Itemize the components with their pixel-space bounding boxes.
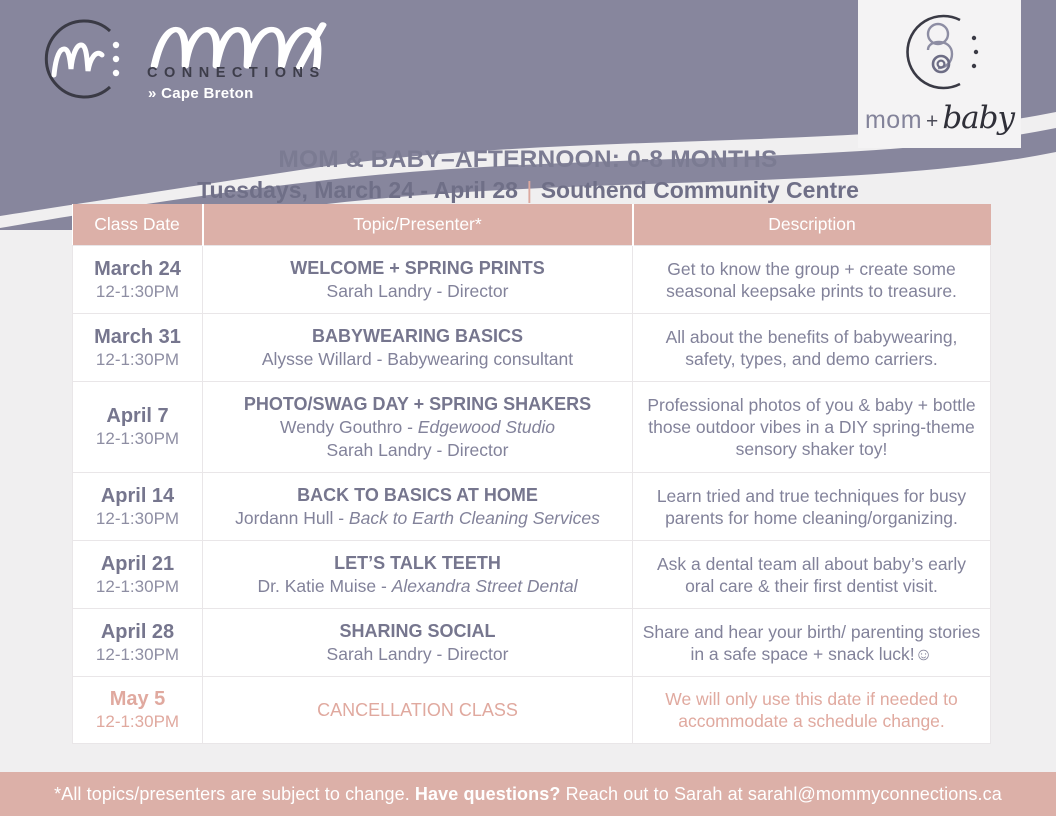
presenter-org-text: Back to Earth Cleaning Services bbox=[349, 508, 600, 528]
presenter-text: Alysse Willard - Babywearing consultant bbox=[211, 348, 624, 371]
footer-note-before: *All topics/presenters are subject to ch… bbox=[54, 784, 415, 804]
class-date-text: April 28 bbox=[81, 620, 194, 644]
cell-description: Professional photos of you & baby + bott… bbox=[633, 382, 991, 473]
class-time-text: 12-1:30PM bbox=[81, 281, 194, 303]
table-row: April 712-1:30PMPHOTO/SWAG DAY + SPRING … bbox=[73, 382, 991, 473]
topic-title-text: WELCOME + SPRING PRINTS bbox=[211, 256, 624, 280]
topic-title-text: BABYWEARING BASICS bbox=[211, 324, 624, 348]
topic-title-text: PHOTO/SWAG DAY + SPRING SHAKERS bbox=[211, 392, 624, 416]
class-date-text: May 5 bbox=[81, 687, 194, 711]
cell-class-date: May 512-1:30PM bbox=[73, 677, 203, 744]
mommy-connections-logo: CONNECTIONS » Cape Breton bbox=[26, 8, 386, 110]
presenter-secondary-text: Sarah Landry - Director bbox=[211, 439, 624, 462]
class-date-text: April 21 bbox=[81, 552, 194, 576]
cell-class-date: April 712-1:30PM bbox=[73, 382, 203, 473]
presenter-text: Sarah Landry - Director bbox=[211, 643, 624, 666]
presenter-org-text: Alexandra Street Dental bbox=[392, 576, 578, 596]
table-row: March 2412-1:30PMWELCOME + SPRING PRINTS… bbox=[73, 246, 991, 314]
subtitle-separator: | bbox=[524, 177, 534, 203]
presenter-text: Wendy Gouthro - Edgewood Studio bbox=[211, 416, 624, 439]
cell-description: Share and hear your birth/ parenting sto… bbox=[633, 609, 991, 677]
cell-class-date: March 3112-1:30PM bbox=[73, 314, 203, 382]
presenter-org-text: Edgewood Studio bbox=[418, 417, 555, 437]
presenter-text: Sarah Landry - Director bbox=[211, 280, 624, 303]
table-header-row: Class Date Topic/Presenter* Description bbox=[73, 204, 991, 246]
table-row: April 1412-1:30PMBACK TO BASICS AT HOMEJ… bbox=[73, 473, 991, 541]
cell-description: Learn tried and true techniques for busy… bbox=[633, 473, 991, 541]
presenter-text: Jordann Hull - Back to Earth Cleaning Se… bbox=[211, 507, 624, 530]
subtitle-venue: Southend Community Centre bbox=[534, 177, 859, 203]
footer-note: *All topics/presenters are subject to ch… bbox=[54, 784, 1002, 805]
cell-topic-presenter: LET’S TALK TEETHDr. Katie Muise - Alexan… bbox=[203, 541, 633, 609]
mom-and-baby-icon bbox=[884, 8, 996, 100]
region-label: » Cape Breton bbox=[148, 85, 254, 102]
mommy-connections-m-icon bbox=[26, 9, 128, 109]
cell-description: We will only use this date if needed to … bbox=[633, 677, 991, 744]
class-time-text: 12-1:30PM bbox=[81, 644, 194, 666]
cell-class-date: April 2112-1:30PM bbox=[73, 541, 203, 609]
class-schedule-table: Class Date Topic/Presenter* Description … bbox=[72, 204, 991, 744]
baby-label: baby bbox=[942, 100, 1014, 136]
topic-title-text: CANCELLATION CLASS bbox=[211, 698, 624, 722]
header-topic-presenter: Topic/Presenter* bbox=[203, 204, 633, 246]
cell-class-date: April 1412-1:30PM bbox=[73, 473, 203, 541]
page-subtitle: Tuesdays, March 24 - April 28 | Southend… bbox=[0, 176, 1056, 204]
title-block: MOM & BABY–AFTERNOON: 0-8 MONTHS Tuesday… bbox=[0, 146, 1056, 204]
class-date-text: March 24 bbox=[81, 257, 194, 281]
header-description: Description bbox=[633, 204, 991, 246]
mom-label: mom bbox=[865, 106, 922, 135]
mom-and-baby-logo: mom + baby bbox=[858, 0, 1021, 148]
class-time-text: 12-1:30PM bbox=[81, 349, 194, 371]
page-title: MOM & BABY–AFTERNOON: 0-8 MONTHS bbox=[0, 146, 1056, 174]
header-class-date: Class Date bbox=[73, 204, 203, 246]
footer-banner: *All topics/presenters are subject to ch… bbox=[0, 772, 1056, 816]
class-time-text: 12-1:30PM bbox=[81, 428, 194, 450]
connections-label: CONNECTIONS bbox=[147, 65, 326, 81]
cell-topic-presenter: WELCOME + SPRING PRINTSSarah Landry - Di… bbox=[203, 246, 633, 314]
mommy-script-wordmark bbox=[144, 7, 364, 69]
subtitle-dates: Tuesdays, March 24 - April 28 bbox=[197, 177, 524, 203]
cell-description: Get to know the group + create some seas… bbox=[633, 246, 991, 314]
topic-title-text: SHARING SOCIAL bbox=[211, 619, 624, 643]
table-row: May 512-1:30PMCANCELLATION CLASSWe will … bbox=[73, 677, 991, 744]
topic-title-text: BACK TO BASICS AT HOME bbox=[211, 483, 624, 507]
footer-note-bold: Have questions? bbox=[415, 784, 561, 804]
cell-description: All about the benefits of babywearing, s… bbox=[633, 314, 991, 382]
cell-topic-presenter: BACK TO BASICS AT HOMEJordann Hull - Bac… bbox=[203, 473, 633, 541]
table-body: March 2412-1:30PMWELCOME + SPRING PRINTS… bbox=[73, 246, 991, 744]
cell-topic-presenter: SHARING SOCIALSarah Landry - Director bbox=[203, 609, 633, 677]
class-time-text: 12-1:30PM bbox=[81, 508, 194, 530]
table-row: March 3112-1:30PMBABYWEARING BASICSAlyss… bbox=[73, 314, 991, 382]
table-row: April 2112-1:30PMLET’S TALK TEETHDr. Kat… bbox=[73, 541, 991, 609]
cell-topic-presenter: PHOTO/SWAG DAY + SPRING SHAKERSWendy Gou… bbox=[203, 382, 633, 473]
class-date-text: March 31 bbox=[81, 325, 194, 349]
class-time-text: 12-1:30PM bbox=[81, 576, 194, 598]
cell-class-date: April 2812-1:30PM bbox=[73, 609, 203, 677]
cell-topic-presenter: CANCELLATION CLASS bbox=[203, 677, 633, 744]
cell-description: Ask a dental team all about baby’s early… bbox=[633, 541, 991, 609]
cell-class-date: March 2412-1:30PM bbox=[73, 246, 203, 314]
presenter-text: Dr. Katie Muise - Alexandra Street Denta… bbox=[211, 575, 624, 598]
footer-note-after: Reach out to Sarah at sarahl@mommyconnec… bbox=[560, 784, 1001, 804]
class-date-text: April 7 bbox=[81, 404, 194, 428]
table-row: April 2812-1:30PMSHARING SOCIALSarah Lan… bbox=[73, 609, 991, 677]
cell-topic-presenter: BABYWEARING BASICSAlysse Willard - Babyw… bbox=[203, 314, 633, 382]
class-date-text: April 14 bbox=[81, 484, 194, 508]
plus-label: + bbox=[926, 110, 938, 134]
class-time-text: 12-1:30PM bbox=[81, 711, 194, 733]
topic-title-text: LET’S TALK TEETH bbox=[211, 551, 624, 575]
